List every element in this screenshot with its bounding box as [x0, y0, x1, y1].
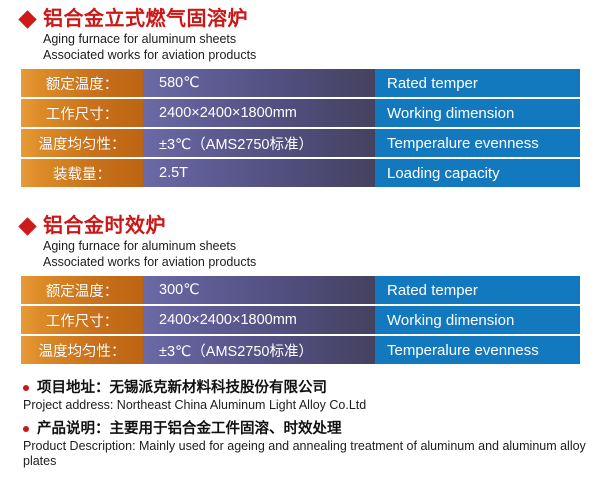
table-row: 工作尺寸： 2400×2400×1800mm Working dimension — [21, 99, 580, 127]
note-english: Product Description: Mainly used for age… — [0, 439, 600, 470]
section-subtitle-line-2: Associated works for aviation products — [0, 255, 600, 271]
footer-notes: 项目地址：无锡派克新材料科技股份有限公司 Project address: No… — [0, 378, 600, 475]
section-subtitle-line-1: Aging furnace for aluminum sheets — [0, 239, 600, 255]
diamond-icon — [18, 217, 36, 235]
spec-value-cell: 2400×2400×1800mm — [143, 99, 375, 127]
spec-label-cell: 额定温度： — [21, 276, 143, 304]
spec-label-cell: 工作尺寸： — [21, 99, 143, 127]
spec-value-cell: 2.5T — [143, 159, 375, 187]
table-row: 温度均匀性： ±3℃（AMS2750标准） Temperalure evenne… — [21, 336, 580, 364]
table-row: 额定温度： 580℃ Rated temper — [21, 69, 580, 97]
bullet-dot-icon — [23, 426, 29, 432]
table-row: 温度均匀性： ±3℃（AMS2750标准） Temperalure evenne… — [21, 129, 580, 157]
spec-english-cell: Working dimension — [375, 99, 580, 127]
section-subtitle-line-2: Associated works for aviation products — [0, 48, 600, 64]
note-heading: 产品说明：主要用于铝合金工件固溶、时效处理 — [0, 419, 600, 439]
product-spec-page: 铝合金立式燃气固溶炉 Aging furnace for aluminum sh… — [0, 0, 600, 484]
spec-english-cell: Rated temper — [375, 276, 580, 304]
spec-value-cell: 2400×2400×1800mm — [143, 306, 375, 334]
note-english: Project address: Northeast China Aluminu… — [0, 398, 600, 414]
spec-value-cell: 300℃ — [143, 276, 375, 304]
product-section-aging-furnace: 铝合金时效炉 Aging furnace for aluminum sheets… — [0, 213, 600, 364]
section-heading: 铝合金时效炉 — [0, 213, 600, 239]
spec-label-cell: 工作尺寸： — [21, 306, 143, 334]
section-title: 铝合金立式燃气固溶炉 — [43, 7, 248, 31]
spec-value-cell: 580℃ — [143, 69, 375, 97]
table-row: 工作尺寸： 2400×2400×1800mm Working dimension — [21, 306, 580, 334]
section-subtitle-line-1: Aging furnace for aluminum sheets — [0, 32, 600, 48]
spec-label-cell: 装载量： — [21, 159, 143, 187]
section-title: 铝合金时效炉 — [43, 214, 166, 238]
spec-english-cell: Temperalure evenness — [375, 336, 580, 364]
table-row: 额定温度： 300℃ Rated temper — [21, 276, 580, 304]
section-heading: 铝合金立式燃气固溶炉 — [0, 6, 600, 32]
spec-label-cell: 温度均匀性： — [21, 129, 143, 157]
spec-value-cell: ±3℃（AMS2750标准） — [143, 129, 375, 157]
bullet-dot-icon — [23, 385, 29, 391]
note-project-address: 项目地址：无锡派克新材料科技股份有限公司 Project address: No… — [0, 378, 600, 414]
spec-value-cell: ±3℃（AMS2750标准） — [143, 336, 375, 364]
spec-label-cell: 额定温度： — [21, 69, 143, 97]
spec-table: 额定温度： 300℃ Rated temper 工作尺寸： 2400×2400×… — [21, 276, 580, 364]
diamond-icon — [18, 10, 36, 28]
table-row: 装载量： 2.5T Loading capacity — [21, 159, 580, 187]
spec-label-cell: 温度均匀性： — [21, 336, 143, 364]
product-section-gas-solution-furnace: 铝合金立式燃气固溶炉 Aging furnace for aluminum sh… — [0, 6, 600, 187]
spec-english-cell: Rated temper — [375, 69, 580, 97]
spec-english-cell: Working dimension — [375, 306, 580, 334]
note-product-description: 产品说明：主要用于铝合金工件固溶、时效处理 Product Descriptio… — [0, 419, 600, 470]
spec-english-cell: Temperalure evenness — [375, 129, 580, 157]
note-heading: 项目地址：无锡派克新材料科技股份有限公司 — [0, 378, 600, 398]
note-title: 产品说明：主要用于铝合金工件固溶、时效处理 — [37, 419, 342, 439]
spec-table: 额定温度： 580℃ Rated temper 工作尺寸： 2400×2400×… — [21, 69, 580, 187]
spec-english-cell: Loading capacity — [375, 159, 580, 187]
note-title: 项目地址：无锡派克新材料科技股份有限公司 — [37, 378, 327, 398]
